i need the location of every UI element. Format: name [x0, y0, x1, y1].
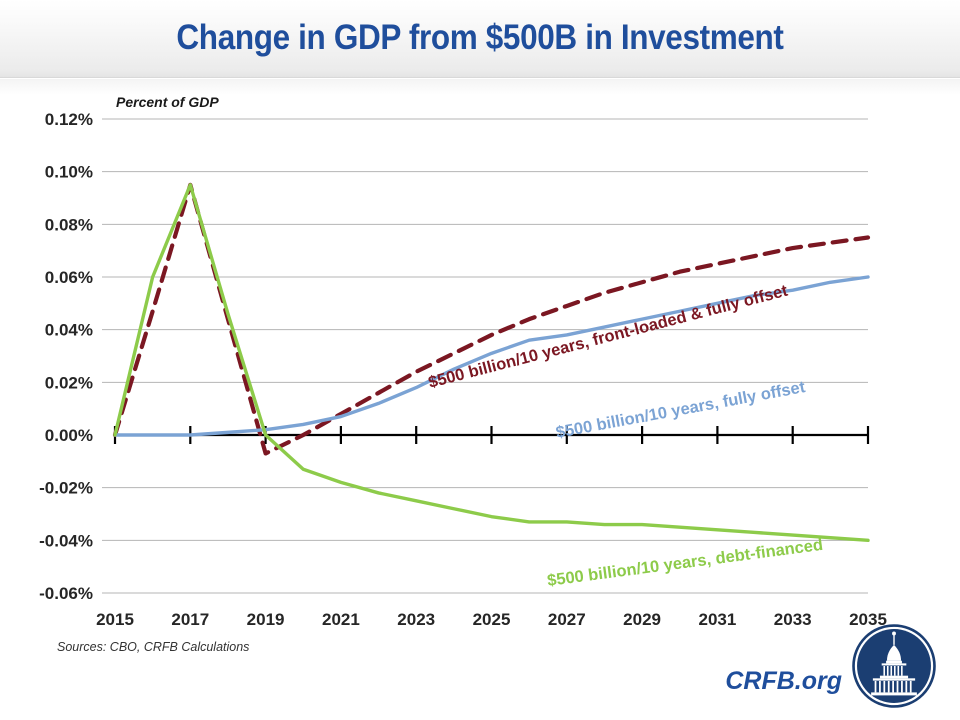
capitol-dome-icon[interactable] — [850, 622, 938, 710]
y-axis-tick-label: 0.08% — [45, 215, 93, 234]
series-annotation-debt_financed: $500 billion/10 years, debt-financed — [546, 536, 824, 590]
x-axis-tick-label: 2027 — [548, 610, 586, 629]
chart-container: 0.12%0.10%0.08%0.06%0.04%0.02%0.00%-0.02… — [0, 78, 960, 638]
y-axis-tick-label: 0.10% — [45, 163, 93, 182]
y-axis-title-group: Percent of GDP — [116, 94, 219, 110]
x-axis-tick-label: 2025 — [473, 610, 511, 629]
y-axis-tick-label: 0.12% — [45, 110, 93, 129]
series-annotation-front_loaded_fully_offset: $500 billion/10 years, front-loaded & fu… — [426, 282, 790, 392]
y-axis-title: Percent of GDP — [116, 94, 219, 110]
x-axis-tick-label: 2019 — [247, 610, 285, 629]
y-axis-tick-label: 0.00% — [45, 426, 93, 445]
series-annotation-fully_offset: $500 billion/10 years, fully offset — [554, 378, 807, 442]
y-axis-tick-label: 0.06% — [45, 268, 93, 287]
page-title: Change in GDP from $500B in Investment — [48, 18, 912, 58]
y-axis-labels-group: 0.12%0.10%0.08%0.06%0.04%0.02%0.00%-0.02… — [39, 110, 93, 603]
x-axis-tick-label: 2017 — [171, 610, 209, 629]
brand-block: CRFB.org — [626, 620, 946, 712]
y-axis-tick-label: -0.04% — [39, 531, 93, 550]
y-axis-tick-label: -0.02% — [39, 479, 93, 498]
x-axis-tick-label: 2021 — [322, 610, 360, 629]
x-axis-tick-label: 2015 — [96, 610, 134, 629]
y-axis-tick-label: -0.06% — [39, 584, 93, 603]
x-axis-tick-label: 2023 — [397, 610, 435, 629]
gdp-change-line-chart: 0.12%0.10%0.08%0.06%0.04%0.02%0.00%-0.02… — [0, 78, 960, 638]
brand-label[interactable]: CRFB.org — [725, 667, 842, 696]
y-axis-tick-label: 0.02% — [45, 373, 93, 392]
slide-root: Change in GDP from $500B in Investment 0… — [0, 0, 960, 720]
y-axis-tick-label: 0.04% — [45, 321, 93, 340]
sources-note: Sources: CBO, CRFB Calculations — [57, 640, 249, 654]
